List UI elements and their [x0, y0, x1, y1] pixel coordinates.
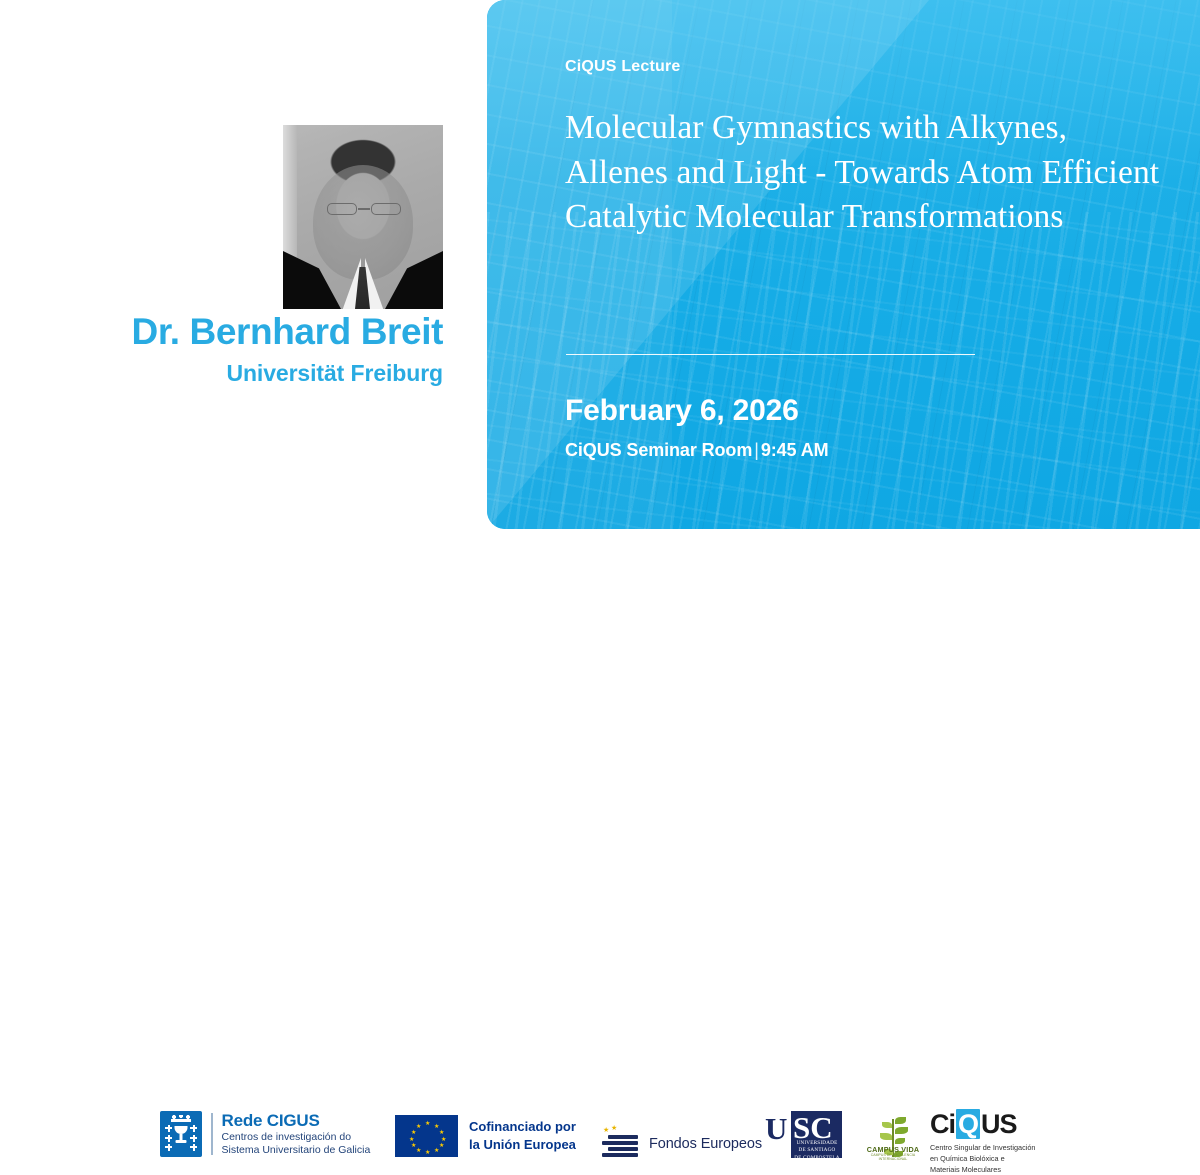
time-text: 9:45 AM [761, 440, 829, 460]
ciqus-part-us: US [981, 1109, 1017, 1139]
logo-ciqus: CiQUS Centro Singular de Investigación e… [930, 1111, 1035, 1175]
speaker-portrait-photo [283, 125, 443, 309]
horizontal-separator [566, 354, 975, 355]
lecture-venue-time: CiQUS Seminar Room|9:45 AM [565, 440, 828, 461]
eu-text: Cofinanciado por la Unión Europea [469, 1118, 576, 1153]
fondos-europeos-text: Fondos Europeos [649, 1136, 762, 1152]
usc-line1: UNIVERSIDADE [794, 1140, 840, 1147]
logo-divider [211, 1113, 213, 1155]
eu-line2: la Unión Europea [469, 1136, 576, 1154]
portrait-face [313, 165, 413, 280]
ciqus-wordmark: CiQUS [930, 1111, 1035, 1138]
speaker-affiliation: Universität Freiburg [0, 362, 443, 385]
usc-line2: DE SANTIAGO [794, 1147, 840, 1154]
campus-vida-subtext: CAMPUS DE EXCELENCIA INTERNACIONAL [862, 1153, 924, 1161]
lecture-date: February 6, 2026 [565, 394, 799, 428]
usc-letters-sc: SC [793, 1112, 833, 1143]
fondos-europeos-icon: ★ ★ [598, 1127, 642, 1161]
eu-flag-icon: ★ ★ ★ ★ ★ ★ ★ ★ ★ ★ ★ ★ [395, 1115, 458, 1157]
ciqus-desc-line2: en Química Biolóxica e [930, 1154, 1035, 1165]
venue-time-separator: | [752, 440, 761, 460]
ciqus-part-ci: Ci [930, 1109, 955, 1139]
lecture-title: Molecular Gymnastics with Alkynes, Allen… [565, 106, 1165, 240]
speaker-name: Dr. Bernhard Breit [0, 313, 443, 350]
left-pane: Dr. Bernhard Breit Universität Freiburg [0, 0, 487, 545]
sponsor-logo-bar: Rede CIGUS Centros de investigación do S… [0, 545, 1200, 675]
lecture-panel: CiQUS Lecture Molecular Gymnastics with … [487, 0, 1200, 529]
galicia-coat-of-arms-icon [160, 1111, 202, 1157]
logo-union-europea: ★ ★ ★ ★ ★ ★ ★ ★ ★ ★ ★ ★ Cofinanciado por… [395, 1115, 576, 1157]
logo-fondos-europeos: ★ ★ Fondos Europeos [598, 1127, 762, 1161]
logo-rede-cigus: Rede CIGUS Centros de investigación do S… [160, 1110, 370, 1157]
venue-text: CiQUS Seminar Room [565, 440, 752, 460]
campus-vida-plant-icon: CAMPUS VIDA CAMPUS DE EXCELENCIA INTERNA… [862, 1115, 924, 1163]
rede-cigus-line1: Centros de investigación do [222, 1131, 371, 1144]
ciqus-desc-line3: Materiais Moleculares [930, 1165, 1035, 1175]
lecture-kicker: CiQUS Lecture [565, 58, 681, 76]
rede-cigus-line2: Sistema Universitario de Galicia [222, 1144, 371, 1157]
usc-line3: DE COMPOSTELA [794, 1155, 840, 1162]
glasses-icon [325, 203, 403, 215]
ciqus-part-q: Q [956, 1109, 980, 1139]
rede-cigus-title: Rede CIGUS [222, 1110, 371, 1131]
usc-letter-u: U [765, 1113, 787, 1144]
ciqus-description: Centro Singular de Investigación en Quím… [930, 1143, 1035, 1175]
eu-line1: Cofinanciado por [469, 1118, 576, 1136]
logo-usc: U SC UNIVERSIDADE DE SANTIAGO DE COMPOST… [765, 1111, 842, 1158]
usc-badge: SC UNIVERSIDADE DE SANTIAGO DE COMPOSTEL… [791, 1111, 842, 1158]
usc-subtitle: UNIVERSIDADE DE SANTIAGO DE COMPOSTELA [794, 1140, 840, 1162]
logo-campus-vida: CAMPUS VIDA CAMPUS DE EXCELENCIA INTERNA… [862, 1115, 924, 1163]
ciqus-desc-line1: Centro Singular de Investigación [930, 1143, 1035, 1154]
rede-cigus-text: Rede CIGUS Centros de investigación do S… [222, 1110, 371, 1157]
